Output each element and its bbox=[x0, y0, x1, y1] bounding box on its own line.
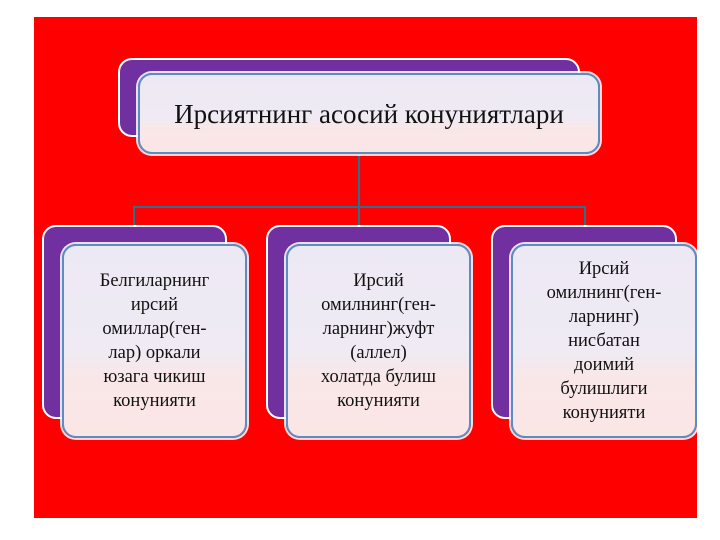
diagram-node-child-1[interactable]: Белгиларнинг ирсий омиллар(ген- лар) орк… bbox=[42, 225, 247, 438]
connector-root-vertical bbox=[358, 153, 360, 208]
node-child-1-card[interactable]: Белгиларнинг ирсий омиллар(ген- лар) орк… bbox=[62, 244, 247, 438]
node-child-3-card[interactable]: Ирсий омилнинг(ген- ларнинг) нисбатан до… bbox=[511, 244, 697, 438]
node-root-label: Ирсиятнинг асосий конуниятлари bbox=[140, 97, 598, 131]
node-child-2-label: Ирсий омилнинг(ген- ларнинг)жуфт (аллел)… bbox=[288, 269, 469, 413]
slide: Ирсиятнинг асосий конуниятлари Белгиларн… bbox=[0, 0, 720, 540]
node-child-2-card[interactable]: Ирсий омилнинг(ген- ларнинг)жуфт (аллел)… bbox=[286, 244, 471, 438]
diagram-node-child-3[interactable]: Ирсий омилнинг(ген- ларнинг) нисбатан до… bbox=[491, 225, 697, 438]
node-child-1-label: Белгиларнинг ирсий омиллар(ген- лар) орк… bbox=[64, 269, 245, 413]
node-child-3-label: Ирсий омилнинг(ген- ларнинг) нисбатан до… bbox=[513, 257, 695, 425]
node-root-card[interactable]: Ирсиятнинг асосий конуниятлари bbox=[138, 73, 600, 154]
diagram-node-root[interactable]: Ирсиятнинг асосий конуниятлари bbox=[118, 58, 600, 154]
diagram-node-child-2[interactable]: Ирсий омилнинг(ген- ларнинг)жуфт (аллел)… bbox=[266, 225, 471, 438]
slide-canvas: Ирсиятнинг асосий конуниятлари Белгиларн… bbox=[34, 17, 697, 518]
